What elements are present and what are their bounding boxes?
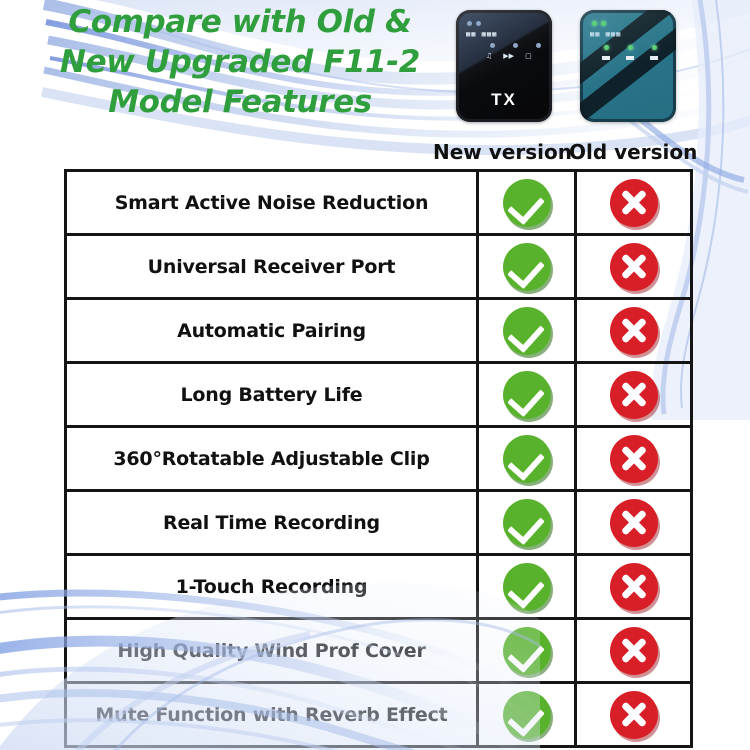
comparison-infographic: Compare with Old & New Upgraded F11-2 Mo…	[0, 0, 750, 750]
red-cross-icon	[610, 243, 658, 291]
table-row: Long Battery Life	[66, 363, 692, 427]
new-version-status-cell	[478, 491, 576, 555]
product-image-old-version: ▦▦ ▦▦▦	[580, 10, 676, 122]
feature-label: Universal Receiver Port	[66, 235, 478, 299]
column-header-new-version: New version	[433, 140, 572, 164]
red-cross-icon	[610, 691, 658, 739]
feature-label: Smart Active Noise Reduction	[66, 171, 478, 235]
new-version-status-cell	[478, 619, 576, 683]
function-icons-old	[602, 56, 658, 60]
table-row: Mute Function with Reverb Effect	[66, 683, 692, 747]
green-check-icon	[503, 307, 551, 355]
port-label-old: ▦▦ ▦▦▦	[590, 30, 621, 38]
table-row: Real Time Recording	[66, 491, 692, 555]
feature-comparison-table: Smart Active Noise ReductionUniversal Re…	[64, 169, 693, 748]
old-version-status-cell	[576, 235, 692, 299]
feature-label: Automatic Pairing	[66, 299, 478, 363]
column-headers: New version Old version	[0, 140, 750, 166]
red-cross-icon	[610, 435, 658, 483]
feature-label: Mute Function with Reverb Effect	[66, 683, 478, 747]
old-version-status-cell	[576, 491, 692, 555]
device-badge-tx: TX	[456, 90, 552, 110]
green-check-icon	[503, 563, 551, 611]
old-version-status-cell	[576, 683, 692, 747]
function-icons-new: ♫▶▶▢	[486, 52, 532, 60]
table-row: Universal Receiver Port	[66, 235, 692, 299]
status-leds-old	[604, 45, 657, 50]
feature-label: 360°Rotatable Adjustable Clip	[66, 427, 478, 491]
green-check-icon	[503, 435, 551, 483]
led-indicators-new	[467, 21, 481, 26]
green-check-icon	[503, 243, 551, 291]
title-line-3: Model Features	[40, 82, 440, 122]
red-cross-icon	[610, 627, 658, 675]
old-version-status-cell	[576, 299, 692, 363]
table-row: Smart Active Noise Reduction	[66, 171, 692, 235]
page-title: Compare with Old & New Upgraded F11-2 Mo…	[40, 2, 440, 122]
table-row: Automatic Pairing	[66, 299, 692, 363]
feature-label: High Quality Wind Prof Cover	[66, 619, 478, 683]
table-body: Smart Active Noise ReductionUniversal Re…	[66, 171, 692, 747]
new-version-status-cell	[478, 427, 576, 491]
old-version-status-cell	[576, 363, 692, 427]
red-cross-icon	[610, 307, 658, 355]
red-cross-icon	[610, 179, 658, 227]
table-row: 1-Touch Recording	[66, 555, 692, 619]
new-version-status-cell	[478, 363, 576, 427]
new-version-status-cell	[478, 683, 576, 747]
new-version-status-cell	[478, 235, 576, 299]
led-indicators-old	[592, 21, 606, 26]
green-check-icon	[503, 627, 551, 675]
product-images: ▦▦ ▦▦▦ ♫▶▶▢ TX ▦▦ ▦▦▦	[440, 6, 700, 130]
old-version-status-cell	[576, 619, 692, 683]
old-version-status-cell	[576, 427, 692, 491]
new-version-status-cell	[478, 171, 576, 235]
port-label-new: ▦▦ ▦▦▦	[466, 30, 497, 38]
red-cross-icon	[610, 563, 658, 611]
title-line-2: New Upgraded F11-2	[40, 42, 440, 82]
table-row: High Quality Wind Prof Cover	[66, 619, 692, 683]
title-line-1: Compare with Old &	[40, 2, 440, 42]
green-check-icon	[503, 179, 551, 227]
green-check-icon	[503, 691, 551, 739]
table-row: 360°Rotatable Adjustable Clip	[66, 427, 692, 491]
column-header-old-version: Old version	[569, 140, 697, 164]
old-version-status-cell	[576, 555, 692, 619]
old-version-status-cell	[576, 171, 692, 235]
feature-label: Real Time Recording	[66, 491, 478, 555]
product-image-new-version: ▦▦ ▦▦▦ ♫▶▶▢ TX	[456, 10, 552, 122]
green-check-icon	[503, 371, 551, 419]
red-cross-icon	[610, 371, 658, 419]
new-version-status-cell	[478, 555, 576, 619]
feature-label: 1-Touch Recording	[66, 555, 478, 619]
status-leds-new	[490, 43, 541, 48]
green-check-icon	[503, 499, 551, 547]
red-cross-icon	[610, 499, 658, 547]
feature-label: Long Battery Life	[66, 363, 478, 427]
new-version-status-cell	[478, 299, 576, 363]
